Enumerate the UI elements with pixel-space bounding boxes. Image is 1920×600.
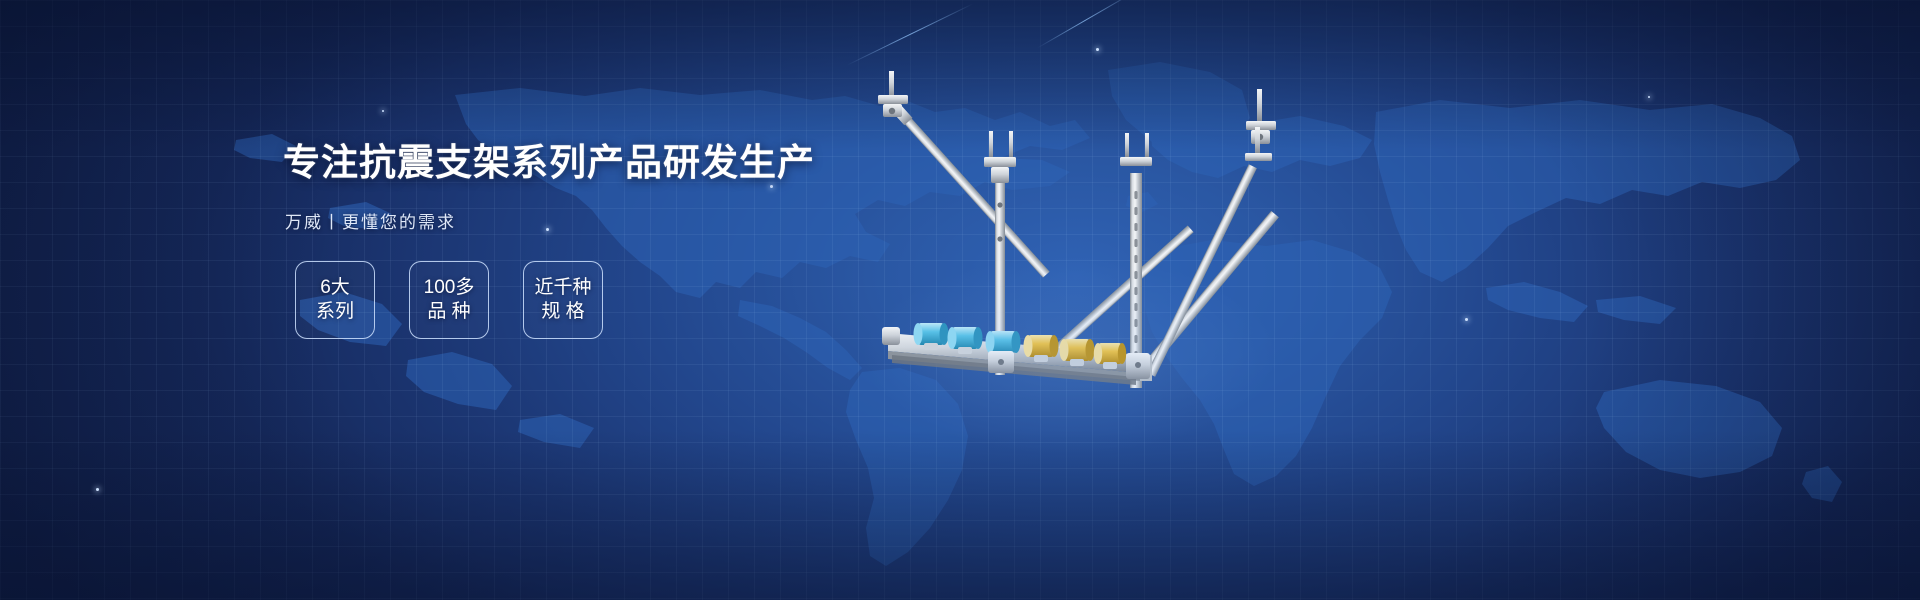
sparkle-dot: [382, 110, 384, 112]
sparkle-dot: [1465, 318, 1468, 321]
page-subtitle: 万威丨更懂您的需求: [285, 208, 803, 233]
bottom-shade: [0, 430, 1920, 600]
banner-copy: 专注抗震支架系列产品研发生产 万威丨更懂您的需求: [283, 140, 803, 233]
sparkle-dot: [1096, 48, 1099, 51]
badge-line-1: 6大: [320, 276, 350, 300]
page-title: 专注抗震支架系列产品研发生产: [283, 140, 803, 186]
badge-group: 6大 系列 100多 品 种 近千种 规 格: [295, 261, 603, 339]
badge-line-2: 品 种: [427, 300, 470, 324]
badge-specifications[interactable]: 近千种 规 格: [523, 261, 603, 339]
badge-line-2: 系列: [316, 300, 354, 324]
badge-line-2: 规 格: [541, 300, 584, 324]
badge-line-1: 近千种: [534, 276, 591, 300]
badge-line-1: 100多: [424, 276, 475, 300]
product-image: [840, 55, 1360, 415]
sparkle-dot: [96, 488, 99, 491]
badge-varieties[interactable]: 100多 品 种: [409, 261, 489, 339]
hero-banner: 专注抗震支架系列产品研发生产 万威丨更懂您的需求 6大 系列 100多 品 种 …: [0, 0, 1920, 600]
sparkle-dot: [1648, 96, 1650, 98]
badge-series[interactable]: 6大 系列: [295, 261, 375, 339]
